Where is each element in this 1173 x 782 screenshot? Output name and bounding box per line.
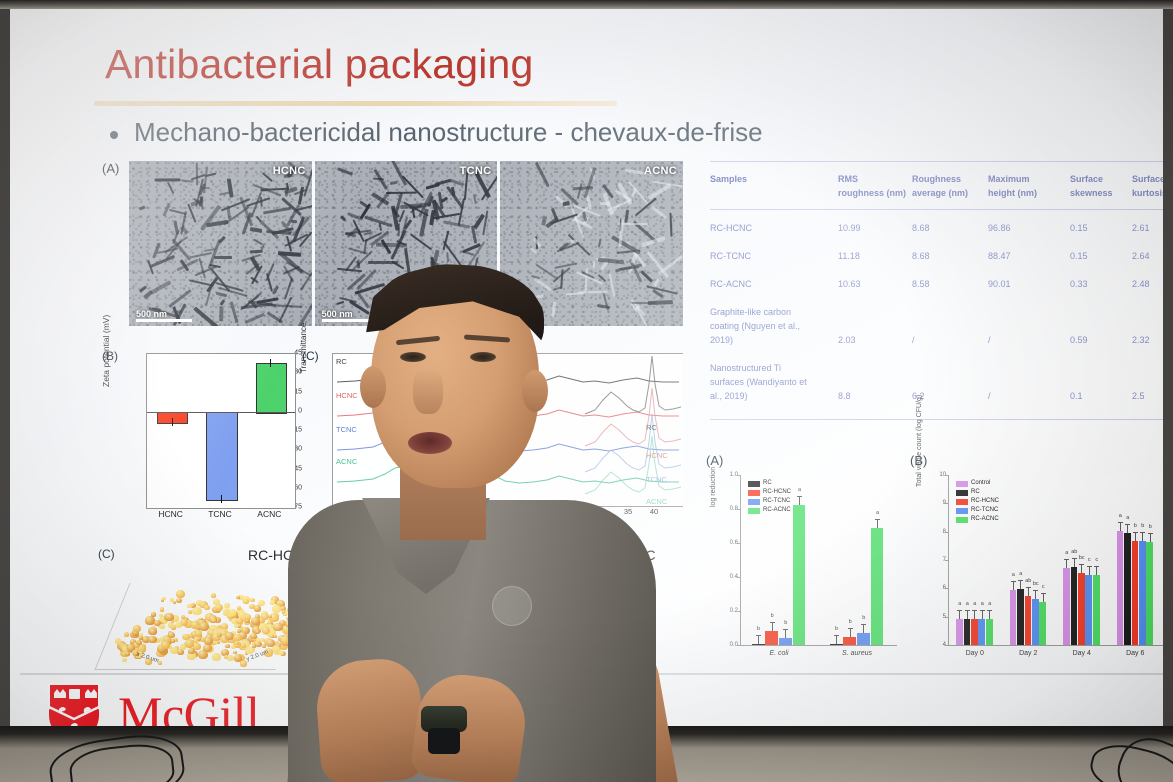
afm-peak	[234, 654, 243, 662]
viable-count-sig-letter: a	[1119, 513, 1122, 519]
log-reduction-bar	[779, 638, 792, 645]
table-cell-kurt: 2.32	[1132, 305, 1163, 347]
afm-peak	[318, 632, 326, 640]
viable-count-sig-letter: b	[1141, 523, 1144, 529]
viable-count-sig-letter: c	[1042, 584, 1045, 590]
afm-peak	[204, 605, 210, 610]
ftir-x-tick: 2000	[456, 507, 473, 516]
zeta-potential-chart: (B) Zeta potential (mV) 4530150-15-30-45…	[102, 347, 302, 537]
afm-peak	[229, 609, 237, 616]
log-reduction-y-label: log reduction	[710, 467, 717, 507]
afm-peak	[358, 636, 363, 640]
log-reduction-bar	[871, 528, 884, 645]
viable-count-bar	[1085, 575, 1092, 645]
legend-label: RC	[971, 488, 980, 497]
table-cell-rms: 10.99	[838, 221, 912, 235]
afm-peak	[161, 641, 170, 649]
ftir-x-tick: 4000	[336, 507, 353, 516]
viable-count-x-label: Day 0	[966, 650, 984, 657]
log-reduction-legend-item: RC	[748, 479, 791, 488]
log-reduction-legend-item: RC-HCNC	[748, 488, 791, 497]
log-reduction-bar	[830, 644, 843, 645]
afm-peak	[347, 599, 353, 605]
afm-peak	[197, 637, 201, 641]
viable-count-y-tick: 9	[926, 500, 946, 506]
spectra-traces	[333, 354, 683, 506]
xrd-x-tick: 30	[598, 507, 606, 516]
bullet-item: Mechano-bactericidal nanostructure - che…	[110, 117, 763, 148]
table-cell-kurt: 2.64	[1132, 249, 1163, 263]
log-reduction-sig-letter: b	[849, 619, 852, 625]
legend-label: RC-TCNC	[763, 497, 790, 506]
tem-image-strip: HCNC 500 nm TCNC 500 nm ACNC	[129, 161, 683, 326]
legend-swatch	[956, 490, 968, 496]
afm-peak	[136, 640, 142, 645]
table-header-cell: RMSroughness (nm)	[838, 172, 912, 200]
afm-peak	[158, 661, 162, 665]
table-top-rule	[710, 161, 1163, 162]
afm-peak	[423, 628, 429, 634]
afm-peak	[322, 639, 328, 645]
tem-scale-text-tcnc: 500 nm	[322, 309, 353, 319]
afm-peak	[165, 613, 174, 621]
table-cell-skew: 0.1	[1070, 361, 1132, 403]
table-cell-kurt: 2.61	[1132, 221, 1163, 235]
zeta-error-bar	[221, 495, 222, 503]
afm-peak	[269, 615, 272, 618]
viable-count-legend-item: RC	[956, 488, 999, 497]
afm-peak	[176, 590, 185, 598]
table-cell-kurt: 2.5	[1132, 361, 1163, 403]
afm-peak	[439, 630, 446, 636]
afm-peak	[439, 611, 444, 615]
xrd-trace-label-tcnc: TCNC	[646, 475, 667, 484]
log-reduction-y-tick: 0.4	[718, 574, 738, 580]
log-reduction-y-tick: 0.6	[718, 540, 738, 546]
afm-peak	[243, 599, 249, 604]
viable-count-bar	[1017, 589, 1024, 645]
afm-peak	[451, 614, 458, 620]
zeta-y-axis-label: Zeta potential (mV)	[101, 315, 111, 387]
table-header-cell: Roughnessaverage (nm)	[912, 172, 988, 200]
viable-count-y-tick: 5	[926, 614, 946, 620]
table-cell-ra: /	[912, 305, 988, 347]
legend-label: RC-ACNC	[971, 515, 999, 524]
tem-panel-tcnc: TCNC 500 nm	[315, 161, 498, 326]
afm-peak	[446, 602, 455, 610]
afm-peak	[300, 619, 309, 627]
afm-z-tick-bottom: 0 nm	[294, 629, 307, 635]
legend-swatch	[748, 481, 760, 487]
afm-peak	[281, 636, 289, 644]
afm-peak	[279, 651, 284, 655]
afm-peak	[270, 635, 273, 638]
legend-label: RC-TCNC	[971, 506, 998, 515]
legend-swatch	[956, 517, 968, 523]
afm-peak	[151, 612, 156, 616]
table-cell-rms: 2.03	[838, 305, 912, 347]
afm-peak	[187, 604, 192, 608]
afm-peak	[371, 603, 375, 607]
bullet-text: Mechano-bactericidal nanostructure - che…	[134, 117, 763, 148]
afm-peak	[431, 596, 438, 603]
afm-peak	[402, 630, 407, 635]
afm-peak	[215, 604, 223, 611]
legend-label: RC-HCNC	[763, 488, 791, 497]
afm-peak	[148, 636, 156, 644]
ftir-trace-label-rc: RC	[336, 357, 347, 366]
log-reduction-sig-letter: a	[798, 487, 801, 493]
log-reduction-legend-item: RC-TCNC	[748, 497, 791, 506]
afm-peak	[160, 607, 165, 611]
afm-peak	[224, 603, 229, 608]
table-cell-sample: Nanostructured Tisurfaces (Wandiyanto et…	[710, 361, 838, 403]
afm-peak	[245, 614, 251, 619]
viable-count-y-tick: 7	[926, 557, 946, 563]
log-reduction-sig-letter: b	[862, 615, 865, 621]
tem-label-hcnc: HCNC	[273, 165, 306, 177]
viable-count-bar	[1124, 533, 1131, 645]
viable-count-bar	[1139, 541, 1146, 645]
viable-count-bar	[964, 619, 971, 645]
ftir-x-tick: 3500	[366, 507, 383, 516]
table-header-cell: Surfacekurtosis	[1132, 172, 1163, 200]
table-cell-max: /	[988, 305, 1070, 347]
afm-peak	[133, 625, 141, 632]
log-reduction-legend: RC RC-HCNC RC-TCNC RC-ACNC	[748, 479, 791, 515]
log-reduction-sig-letter: b	[784, 620, 787, 626]
afm-peak	[443, 619, 448, 623]
log-reduction-sig-letter: a	[876, 510, 879, 516]
afm-peak	[386, 610, 391, 615]
afm-peak	[418, 608, 425, 614]
viable-count-legend: Control RC RC-HCNC RC-TCNC RC-ACNC	[956, 479, 999, 524]
afm-peak	[288, 589, 293, 594]
afm-peak	[159, 614, 163, 617]
table-cell-max: /	[988, 361, 1070, 403]
viable-count-y-tick: 10	[926, 472, 946, 478]
afm-peak	[192, 607, 201, 615]
viable-count-legend-item: RC-HCNC	[956, 497, 999, 506]
afm-peak	[270, 600, 275, 605]
viable-count-legend-item: RC-TCNC	[956, 506, 999, 515]
viable-count-sig-letter: a	[966, 601, 969, 607]
afm-peak	[360, 614, 368, 622]
afm-peak	[248, 647, 255, 653]
viable-count-x-label: Day 6	[1126, 650, 1144, 657]
zeta-bar-hcnc	[157, 412, 189, 424]
lecture-photo-scene: Antibacterial packaging Mechano-bacteric…	[0, 0, 1173, 782]
viable-count-bar	[978, 619, 985, 645]
afm-peak	[262, 627, 270, 634]
ftir-xrd-chart: (C) Transmittance RCHCNCTCNCACNC RCHCNCT…	[302, 347, 684, 542]
title-underline	[94, 101, 617, 106]
legend-label: RC	[763, 479, 772, 488]
panel-tag-a: (A)	[102, 161, 119, 176]
table-row: RC-HCNC 10.99 8.68 96.86 0.15 2.61	[710, 221, 1163, 235]
xrd-trace-label-acnc: ACNC	[646, 497, 667, 506]
legend-label: RC-HCNC	[971, 497, 999, 506]
ftir-trace-label-hcnc: HCNC	[336, 391, 358, 400]
afm-peak	[426, 609, 434, 616]
viable-count-sig-letter: bc	[1033, 581, 1039, 587]
viable-count-bar	[1071, 567, 1078, 645]
viable-count-bar	[1039, 602, 1046, 645]
table-cell-max: 88.47	[988, 249, 1070, 263]
viable-count-bar	[956, 619, 963, 645]
log-reduction-sig-letter: b	[835, 626, 838, 632]
tem-panel-hcnc: HCNC 500 nm	[129, 161, 312, 326]
viable-count-sig-letter: a	[981, 601, 984, 607]
zeta-bar-acnc	[256, 363, 288, 414]
afm-peak	[162, 597, 165, 600]
zeta-error-bar	[172, 418, 173, 426]
log-reduction-y-tick: 0.8	[718, 506, 738, 512]
panel-tag-c2: (C)	[98, 547, 115, 561]
afm-peak	[177, 649, 184, 655]
afm-peak	[370, 626, 378, 633]
afm-peak	[149, 628, 157, 635]
legend-swatch	[956, 481, 968, 487]
viable-count-sig-letter: c	[1095, 557, 1098, 563]
tem-label-tcnc: TCNC	[460, 165, 492, 177]
legend-label: RC-ACNC	[763, 506, 791, 515]
table-cell-sample: Graphite-like carboncoating (Nguyen et a…	[710, 305, 838, 347]
legend-swatch	[748, 490, 760, 496]
afm-peak	[410, 625, 419, 633]
table-cell-rms: 10.63	[838, 277, 912, 291]
log-reduction-legend-item: RC-ACNC	[748, 506, 791, 515]
afm-peak	[273, 623, 282, 631]
log-reduction-y-tick: 0.0	[718, 642, 738, 648]
table-cell-ra: 8.68	[912, 221, 988, 235]
afm-peak	[347, 612, 353, 617]
table-cell-sample: RC-ACNC	[710, 277, 838, 291]
afm-label-rc-hcnc: RC-HCNC	[248, 547, 313, 563]
viable-count-y-tick: 4	[926, 642, 946, 648]
table-row: Nanostructured Tisurfaces (Wandiyanto et…	[710, 361, 1163, 403]
xrd-x-tick: 40	[650, 507, 658, 516]
afm-peak	[236, 596, 239, 599]
viable-count-bar	[1063, 568, 1070, 645]
bullet-dot-icon	[110, 131, 118, 139]
table-header-rule	[710, 209, 1163, 210]
log-reduction-x-label: E. coli	[769, 650, 788, 657]
afm-peak	[292, 636, 296, 639]
viable-count-sig-letter: a	[988, 601, 991, 607]
viable-count-bar	[1010, 590, 1017, 645]
table-row: RC-ACNC 10.63 8.58 90.01 0.33 2.48	[710, 277, 1163, 291]
table-header-cell: Samples	[710, 172, 838, 200]
presentation-slide: Antibacterial packaging Mechano-bacteric…	[10, 9, 1163, 738]
afm-peak	[199, 622, 209, 631]
afm-peak	[212, 653, 221, 661]
table-row: Graphite-like carboncoating (Nguyen et a…	[710, 305, 1163, 347]
footer-divider	[20, 673, 1163, 675]
afm-peak	[170, 598, 174, 602]
afm-peak	[353, 615, 361, 622]
viable-count-chart: (B) Total viable count (log CFU/g) 10987…	[908, 453, 1163, 675]
afm-peak	[290, 639, 299, 647]
afm-peak	[401, 619, 411, 628]
afm-peak	[415, 616, 421, 621]
table-header-row: SamplesRMSroughness (nm)Roughnessaverage…	[710, 172, 1163, 200]
afm-peak	[426, 618, 434, 625]
zeta-error-bar	[270, 359, 271, 367]
viable-count-legend-item: RC-ACNC	[956, 515, 999, 524]
panel-tag-right-a: (A)	[706, 453, 723, 468]
afm-peak	[328, 648, 335, 654]
viable-count-sig-letter: a	[1126, 515, 1129, 521]
table-cell-sample: RC-TCNC	[710, 249, 838, 263]
zeta-x-label-tcnc: TCNC	[208, 509, 232, 519]
afm-peak	[140, 633, 143, 636]
viable-count-bar	[1093, 575, 1100, 645]
viable-count-bar	[1078, 573, 1085, 645]
xrd-trace-label-rc: RC	[646, 423, 657, 432]
afm-peak	[350, 627, 360, 636]
afm-peak	[251, 617, 260, 625]
table-cell-skew: 0.15	[1070, 221, 1132, 235]
viable-count-bar	[971, 619, 978, 645]
afm-peak	[357, 640, 365, 647]
table-cell-rms: 11.18	[838, 249, 912, 263]
afm-peak	[234, 641, 239, 645]
tem-panel-acnc: ACNC	[500, 161, 683, 326]
log-reduction-chart: (A) log reduction 1.00.80.60.40.20.0bbba…	[704, 453, 910, 675]
afm-peak	[414, 601, 418, 605]
viable-count-sig-letter: a	[973, 601, 976, 607]
tem-scale-bar-tcnc	[322, 319, 378, 322]
afm-peak	[397, 624, 401, 627]
page-title: Antibacterial packaging	[105, 41, 534, 88]
afm-peak	[175, 622, 182, 628]
table-cell-skew: 0.15	[1070, 249, 1132, 263]
zeta-x-label-acnc: ACNC	[257, 509, 281, 519]
afm-peak	[250, 598, 255, 603]
log-reduction-bar	[857, 633, 870, 645]
viable-count-y-tick: 6	[926, 585, 946, 591]
afm-peak	[262, 644, 266, 648]
table-cell-kurt: 2.48	[1132, 277, 1163, 291]
afm-peak	[363, 626, 370, 632]
viable-count-x-label: Day 4	[1073, 650, 1091, 657]
viable-count-bar	[1117, 531, 1124, 645]
log-reduction-bar	[843, 637, 856, 645]
legend-label: Control	[971, 479, 990, 488]
table-bottom-rule	[710, 419, 1163, 420]
afm-peak	[252, 644, 256, 647]
afm-label-acnc: ACNC	[616, 547, 656, 563]
legend-swatch	[748, 508, 760, 514]
afm-peak	[272, 605, 281, 613]
viable-count-legend-item: Control	[956, 479, 999, 488]
afm-z-tick-top: 60 nm	[294, 589, 311, 595]
ftir-trace-label-acnc: ACNC	[336, 457, 357, 466]
afm-peak	[168, 632, 174, 638]
afm-peak	[349, 623, 352, 626]
xrd-trace-label-hcnc: HCNC	[646, 451, 668, 460]
viable-count-sig-letter: c	[1088, 557, 1091, 563]
table-header-cell: Surfaceskewness	[1070, 172, 1132, 200]
viable-count-bar	[1025, 596, 1032, 645]
afm-peak	[371, 635, 378, 641]
table-cell-max: 90.01	[988, 277, 1070, 291]
ftir-y-axis-label: Transmittance	[299, 323, 308, 373]
bezel-top-edge	[0, 0, 1173, 9]
afm-peak	[363, 648, 367, 651]
viable-count-sig-letter: bc	[1079, 555, 1085, 561]
afm-peak	[225, 644, 229, 648]
afm-peak	[237, 606, 241, 610]
legend-swatch	[956, 508, 968, 514]
log-reduction-bar	[765, 631, 778, 645]
log-reduction-sig-letter: b	[757, 626, 760, 632]
viable-count-bar	[986, 619, 993, 645]
ftir-x-tick: 2500	[426, 507, 443, 516]
afm-peak	[159, 624, 164, 629]
afm-peak	[122, 658, 127, 663]
tem-scale-text-hcnc: 500 nm	[136, 309, 167, 319]
viable-count-sig-letter: a	[1019, 571, 1022, 577]
zeta-plot-area	[146, 353, 296, 509]
zeta-x-label-hcnc: HCNC	[158, 509, 183, 519]
afm-peak	[125, 652, 130, 656]
afm-peak	[256, 630, 260, 633]
viable-count-sig-letter: b	[1134, 523, 1137, 529]
afm-peak	[254, 605, 261, 611]
ftir-x-tick: 3000	[396, 507, 413, 516]
viable-count-bar	[1032, 599, 1039, 645]
table-header-cell: Maximumheight (nm)	[988, 172, 1070, 200]
viable-count-sig-letter: ab	[1071, 549, 1077, 555]
table-cell-rms: 8.8	[838, 361, 912, 403]
viable-count-sig-letter: a	[1065, 550, 1068, 556]
afm-peak	[124, 632, 129, 637]
xrd-x-tick: 35	[624, 507, 632, 516]
tem-scale-bar-hcnc	[136, 319, 192, 322]
log-reduction-sig-letter: b	[771, 613, 774, 619]
log-reduction-bar	[793, 505, 806, 645]
afm-peak	[397, 613, 400, 616]
viable-count-x-label: Day 2	[1019, 650, 1037, 657]
viable-count-bar	[1132, 541, 1139, 645]
table-cell-max: 96.86	[988, 221, 1070, 235]
table-cell-ra: 8.68	[912, 249, 988, 263]
viable-count-y-tick: 8	[926, 529, 946, 535]
afm-peak	[171, 639, 175, 643]
legend-swatch	[956, 499, 968, 505]
afm-peak	[385, 601, 390, 605]
tem-label-acnc: ACNC	[644, 165, 677, 177]
viable-count-sig-letter: a	[1012, 572, 1015, 578]
afm-peak	[386, 637, 393, 643]
table-row: RC-TCNC 11.18 8.68 88.47 0.15 2.64	[710, 249, 1163, 263]
log-reduction-y-tick: 0.2	[718, 608, 738, 614]
ftir-trace-label-tcnc: TCNC	[336, 425, 357, 434]
log-reduction-x-label: S. aureus	[842, 650, 872, 657]
viable-count-sig-letter: ab	[1025, 578, 1031, 584]
table-cell-ra: 6.2	[912, 361, 988, 403]
log-reduction-y-tick: 1.0	[718, 472, 738, 478]
zeta-bar-tcnc	[206, 412, 238, 501]
afm-peak	[238, 624, 241, 627]
viable-count-sig-letter: a	[958, 601, 961, 607]
afm-peak	[397, 635, 402, 640]
afm-peak	[185, 639, 194, 648]
viable-count-bar	[1146, 542, 1153, 645]
viable-count-y-label: Total viable count (log CFU/g)	[916, 395, 923, 487]
